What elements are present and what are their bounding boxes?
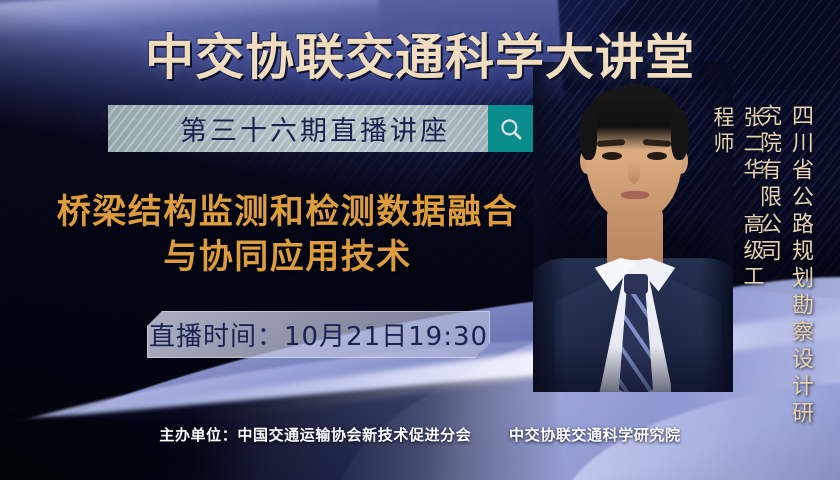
schedule-text: 直播时间：10月21日19:30 (149, 316, 488, 353)
footer-organizer-secondary: 中交协联交通科学研究院 (509, 426, 681, 444)
page-title: 中交协联交通科学大讲堂 (0, 18, 840, 89)
footer-organizer: 主办单位：中国交通运输协会新技术促进分会 (159, 426, 471, 444)
schedule-chip: 直播时间：10月21日19:30 (147, 311, 490, 358)
webinar-poster: 中交协联交通科学大讲堂 第三十六期直播讲座 桥梁结构监测和检测数据融合 与协同应… (0, 0, 840, 480)
lecture-title-line2: 与协同应用技术 (0, 235, 575, 280)
footer: 主办单位：中国交通运输协会新技术促进分会 中交协联交通科学研究院 (0, 424, 840, 445)
search-icon (498, 116, 524, 142)
session-banner-body: 第三十六期直播讲座 (108, 105, 488, 152)
lecture-title: 桥梁结构监测和检测数据融合 与协同应用技术 (0, 190, 575, 280)
lecture-title-line1: 桥梁结构监测和检测数据融合 (57, 192, 519, 232)
search-button[interactable] (488, 105, 533, 152)
speaker-name-title: 张二华 高级工程师 (708, 106, 768, 301)
session-label: 第三十六期直播讲座 (108, 105, 488, 152)
session-banner: 第三十六期直播讲座 (108, 105, 533, 152)
